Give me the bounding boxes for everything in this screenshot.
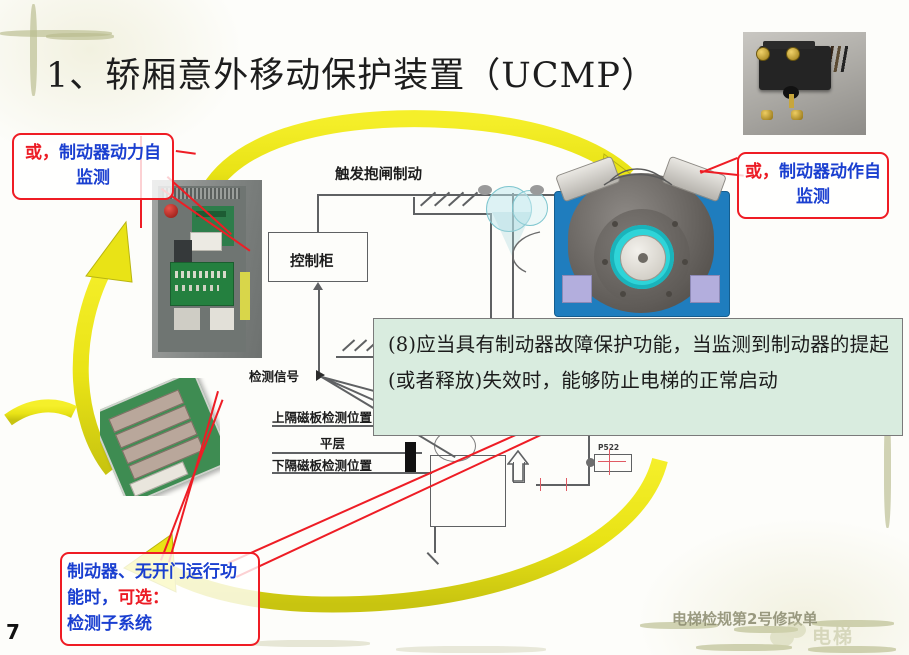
regulation-text-box: (8)应当具有制动器故障保护功能，当监测到制动器的提起(或者释放)失效时，能够防… [373, 318, 903, 436]
callout-bottom-line3: 检测子系统 [67, 614, 152, 634]
schematic-line-detect-up [318, 288, 320, 372]
schematic-up-arrow [507, 450, 529, 482]
schematic-p522-node [586, 458, 595, 467]
callout-bottom-line2-blue: 能时， [67, 588, 118, 608]
schematic-sheave-node-left [478, 185, 492, 195]
wechat-watermark: 电梯 [768, 620, 904, 654]
schematic-car-rope [434, 527, 436, 553]
micro-switch-photo [743, 32, 866, 135]
watermark-text: 电梯 [812, 622, 854, 649]
brush-stroke-top2 [46, 33, 114, 40]
control-cabinet-photo [152, 180, 262, 358]
schematic-label-lower-vane: 下隔磁板检测位置 [272, 455, 372, 474]
callout-brake-power-monitor[interactable]: 或，制动器动力自监测 [12, 133, 174, 200]
schematic-sheave-node-right [530, 185, 544, 195]
schematic-label-control-cabinet: 控制柜 [290, 250, 334, 271]
brush-stroke-bottom-left [250, 640, 370, 647]
schematic-vane-block [405, 442, 416, 472]
traction-machine-illustration [548, 163, 734, 315]
callout-left-prefix: 或， [25, 143, 59, 163]
schematic-cross-left2 [566, 478, 567, 491]
schematic-hatch-bar [413, 213, 491, 215]
schematic-label-leveling: 平层 [320, 433, 345, 452]
callout-detection-subsystem[interactable]: 制动器、无开门运行功 能时，可选： 检测子系统 [60, 552, 260, 646]
schematic-arrowhead-cabinet-in [313, 282, 323, 290]
schematic-p522-box [594, 454, 632, 472]
relay-board-photo [100, 378, 220, 496]
slide-canvas: 1、轿厢意外移动保护装置（UCMP） 触发抱闸制动 [0, 0, 909, 655]
callout-left-text: 制动器动力自监测 [59, 143, 161, 188]
callout-brake-action-monitor[interactable]: 或，制动器动作自监测 [737, 152, 889, 219]
schematic-cross-left [540, 478, 541, 491]
schematic-car-rope-tail [427, 552, 439, 565]
brush-stroke-top-vert [30, 4, 37, 96]
leader-left-callout-1 [176, 150, 196, 154]
callout-right-prefix: 或， [745, 162, 779, 182]
page-title: 1、轿厢意外移动保护装置（UCMP） [46, 54, 657, 98]
callout-bottom-line2-red: 可选： [118, 588, 169, 608]
machine-wire-loop [500, 228, 560, 288]
schematic-label-upper-vane: 上隔磁板检测位置 [272, 407, 372, 426]
brush-stroke-bottom-left2 [396, 646, 546, 653]
page-number: 7 [6, 620, 20, 644]
schematic-label-trigger-brake: 触发抱闸制动 [335, 163, 422, 184]
schematic-hatch-side [413, 197, 415, 214]
schematic-label-detect-signal: 检测信号 [249, 366, 299, 385]
callout-bottom-line1: 制动器、无开门运行功 [67, 562, 237, 582]
schematic-line-leveling [272, 452, 422, 454]
callout-right-text: 制动器动作自监测 [779, 162, 881, 207]
schematic-right-branch-h [536, 484, 590, 486]
schematic-p522-crosshair2 [598, 461, 626, 462]
schematic-line-to-cabinet [317, 194, 319, 232]
